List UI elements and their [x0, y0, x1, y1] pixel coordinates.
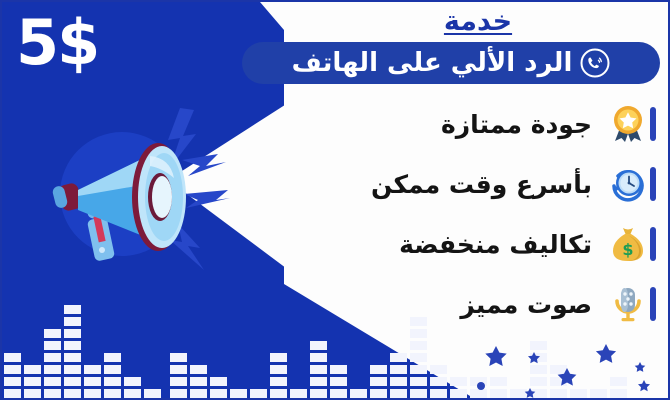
feature-label: تكاليف منخفضة	[399, 230, 600, 259]
equalizer-cell	[44, 365, 61, 374]
equalizer-bar	[210, 377, 227, 398]
equalizer-cell	[104, 377, 121, 386]
equalizer-cell	[210, 389, 227, 398]
equalizer-bar	[250, 389, 267, 398]
headline-text: الرد الألي على الهاتف	[292, 50, 573, 76]
equalizer-cell	[4, 377, 21, 386]
equalizer-bar	[24, 365, 41, 398]
svg-text:$: $	[622, 240, 633, 259]
equalizer-cell	[24, 365, 41, 374]
equalizer-cell	[44, 377, 61, 386]
star-decoration	[472, 324, 670, 400]
accent-bar	[650, 287, 656, 321]
features-list: جودة ممتازة بأسرع	[284, 94, 670, 334]
equalizer-cell	[64, 341, 81, 350]
clock-fast-icon	[608, 164, 648, 204]
equalizer-cell	[170, 353, 187, 362]
equalizer-cell	[44, 329, 61, 338]
equalizer-cell	[190, 389, 207, 398]
equalizer-bar	[44, 329, 61, 398]
equalizer-cell	[64, 377, 81, 386]
equalizer-bar	[170, 353, 187, 398]
equalizer-cell	[124, 377, 141, 386]
equalizer-cell	[64, 317, 81, 326]
accent-bar	[650, 107, 656, 141]
equalizer-cell	[24, 389, 41, 398]
equalizer-cell	[44, 353, 61, 362]
equalizer-cell	[104, 353, 121, 362]
feature-label: بأسرع وقت ممكن	[371, 170, 600, 199]
accent-bar	[650, 167, 656, 201]
equalizer-cell	[64, 353, 81, 362]
equalizer-cell	[44, 389, 61, 398]
equalizer-cell	[64, 305, 81, 314]
equalizer-cell	[84, 389, 101, 398]
equalizer-bar	[104, 353, 121, 398]
equalizer-bar	[144, 389, 161, 398]
equalizer-cell	[190, 377, 207, 386]
equalizer-cell	[64, 329, 81, 338]
phone-ring-icon	[580, 48, 610, 78]
feature-label: جودة ممتازة	[441, 110, 600, 139]
equalizer-cell	[170, 389, 187, 398]
feature-label: صوت مميز	[460, 290, 600, 319]
equalizer-cell	[4, 389, 21, 398]
feature-row-cost: $ تكاليف منخفضة	[284, 214, 670, 274]
megaphone-illustration	[30, 98, 280, 278]
equalizer-cell	[104, 365, 121, 374]
price-label: 5$	[16, 12, 98, 74]
headline-pill: الرد الألي على الهاتف	[242, 42, 660, 84]
equalizer-cell	[170, 377, 187, 386]
medal-award-icon	[608, 104, 648, 144]
equalizer-cell	[250, 389, 267, 398]
microphone-icon	[608, 284, 648, 324]
equalizer-cell	[44, 341, 61, 350]
equalizer-cell	[64, 365, 81, 374]
equalizer-bar	[230, 389, 247, 398]
money-bag-icon: $	[608, 224, 648, 264]
equalizer-cell	[24, 377, 41, 386]
equalizer-cell	[230, 389, 247, 398]
equalizer-cell	[4, 353, 21, 362]
equalizer-cell	[144, 389, 161, 398]
equalizer-cell	[190, 365, 207, 374]
equalizer-cell	[4, 365, 21, 374]
equalizer-cell	[170, 365, 187, 374]
equalizer-cell	[104, 389, 121, 398]
equalizer-bar	[64, 305, 81, 398]
equalizer-cell	[64, 389, 81, 398]
page-title: خدمة	[284, 6, 670, 37]
equalizer-bar	[4, 353, 21, 398]
equalizer-cell	[124, 389, 141, 398]
feature-row-quality: جودة ممتازة	[284, 94, 670, 154]
equalizer-bar	[190, 365, 207, 398]
equalizer-bar	[84, 365, 101, 398]
equalizer-bar	[124, 377, 141, 398]
promo-poster: 5$	[0, 0, 670, 400]
equalizer-cell	[84, 365, 101, 374]
megaphone-icon	[30, 98, 280, 278]
accent-bar	[650, 227, 656, 261]
feature-row-speed: بأسرع وقت ممكن	[284, 154, 670, 214]
equalizer-cell	[84, 377, 101, 386]
equalizer-cell	[210, 377, 227, 386]
